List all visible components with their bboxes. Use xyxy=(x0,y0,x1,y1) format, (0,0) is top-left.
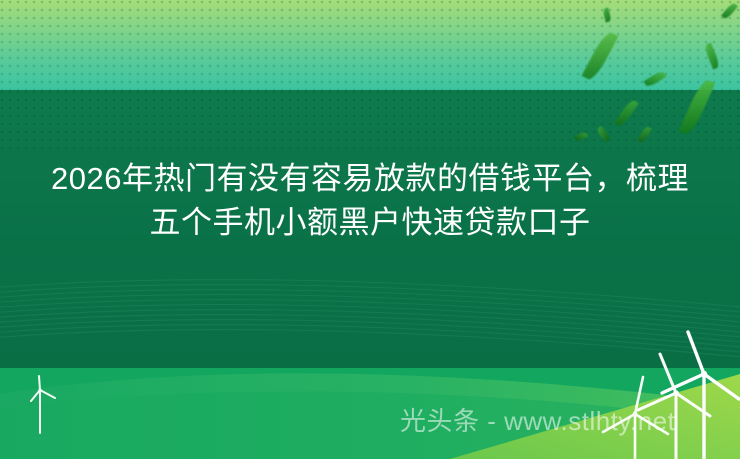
page-title: 2026年热门有没有容易放款的借钱平台，梳理五个手机小额黑户快速贷款口子 xyxy=(0,157,740,245)
dot-texture-middle xyxy=(0,90,740,150)
background-gradient-top xyxy=(0,0,740,91)
site-watermark: 光头条 - www.stlhty.net xyxy=(400,406,675,436)
dot-texture-top xyxy=(0,0,740,91)
swept-line-waves xyxy=(0,265,740,375)
article-cover-banner: 2026年热门有没有容易放款的借钱平台，梳理五个手机小额黑户快速贷款口子 光头条… xyxy=(0,0,740,459)
